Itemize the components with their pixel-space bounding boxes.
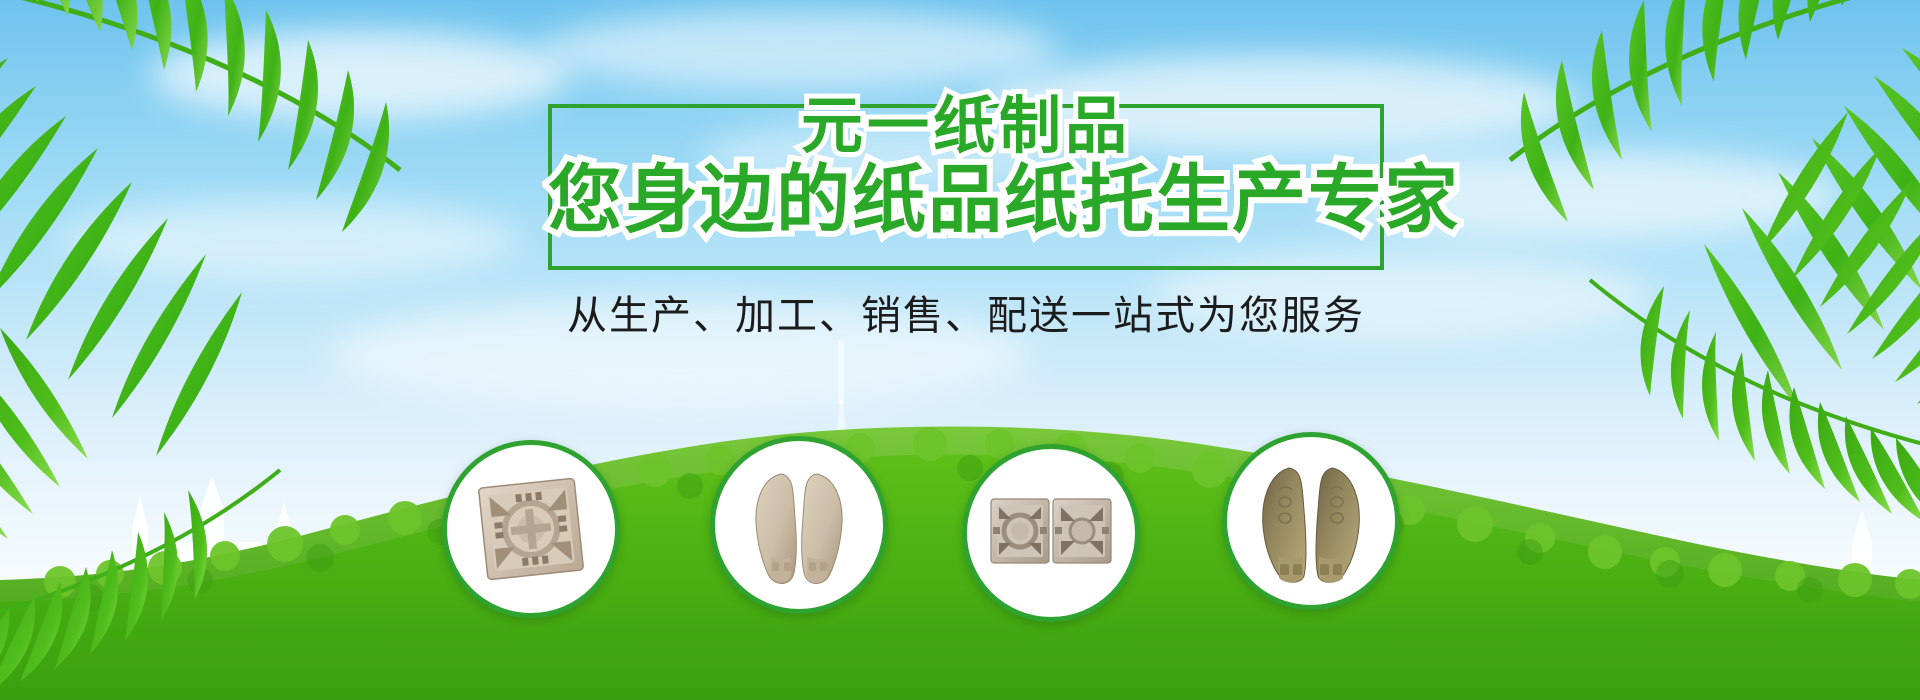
- product-circle-molded-pulp-tray-pair[interactable]: [962, 444, 1140, 622]
- promo-banner: 元一纸制品 您身边的纸品纸托生产专家 从生产、加工、销售、配送一站式为您服务: [0, 0, 1920, 700]
- product-circle-paper-shoe-tree-dark[interactable]: [1222, 432, 1400, 610]
- paper-shoe-tree-light-icon: [715, 441, 883, 609]
- headline-line-1: 元一纸制品: [548, 90, 1384, 162]
- molded-pulp-tray-pair-icon: [967, 449, 1135, 617]
- cloud-icon: [540, 10, 1060, 90]
- headline-text: 元一纸制品 您身边的纸品纸托生产专家: [548, 90, 1384, 242]
- headline-line-2: 您身边的纸品纸托生产专家: [548, 158, 1384, 242]
- molded-pulp-square-tray-icon: [447, 445, 615, 613]
- product-circle-paper-shoe-tree-light[interactable]: [710, 436, 888, 614]
- banner-subtitle: 从生产、加工、销售、配送一站式为您服务: [548, 288, 1384, 344]
- product-circle-molded-pulp-square-tray[interactable]: [442, 440, 620, 618]
- paper-shoe-tree-dark-icon: [1227, 437, 1395, 605]
- product-showcase: [0, 430, 1920, 660]
- cloud-icon: [60, 200, 520, 280]
- cloud-icon: [150, 30, 570, 120]
